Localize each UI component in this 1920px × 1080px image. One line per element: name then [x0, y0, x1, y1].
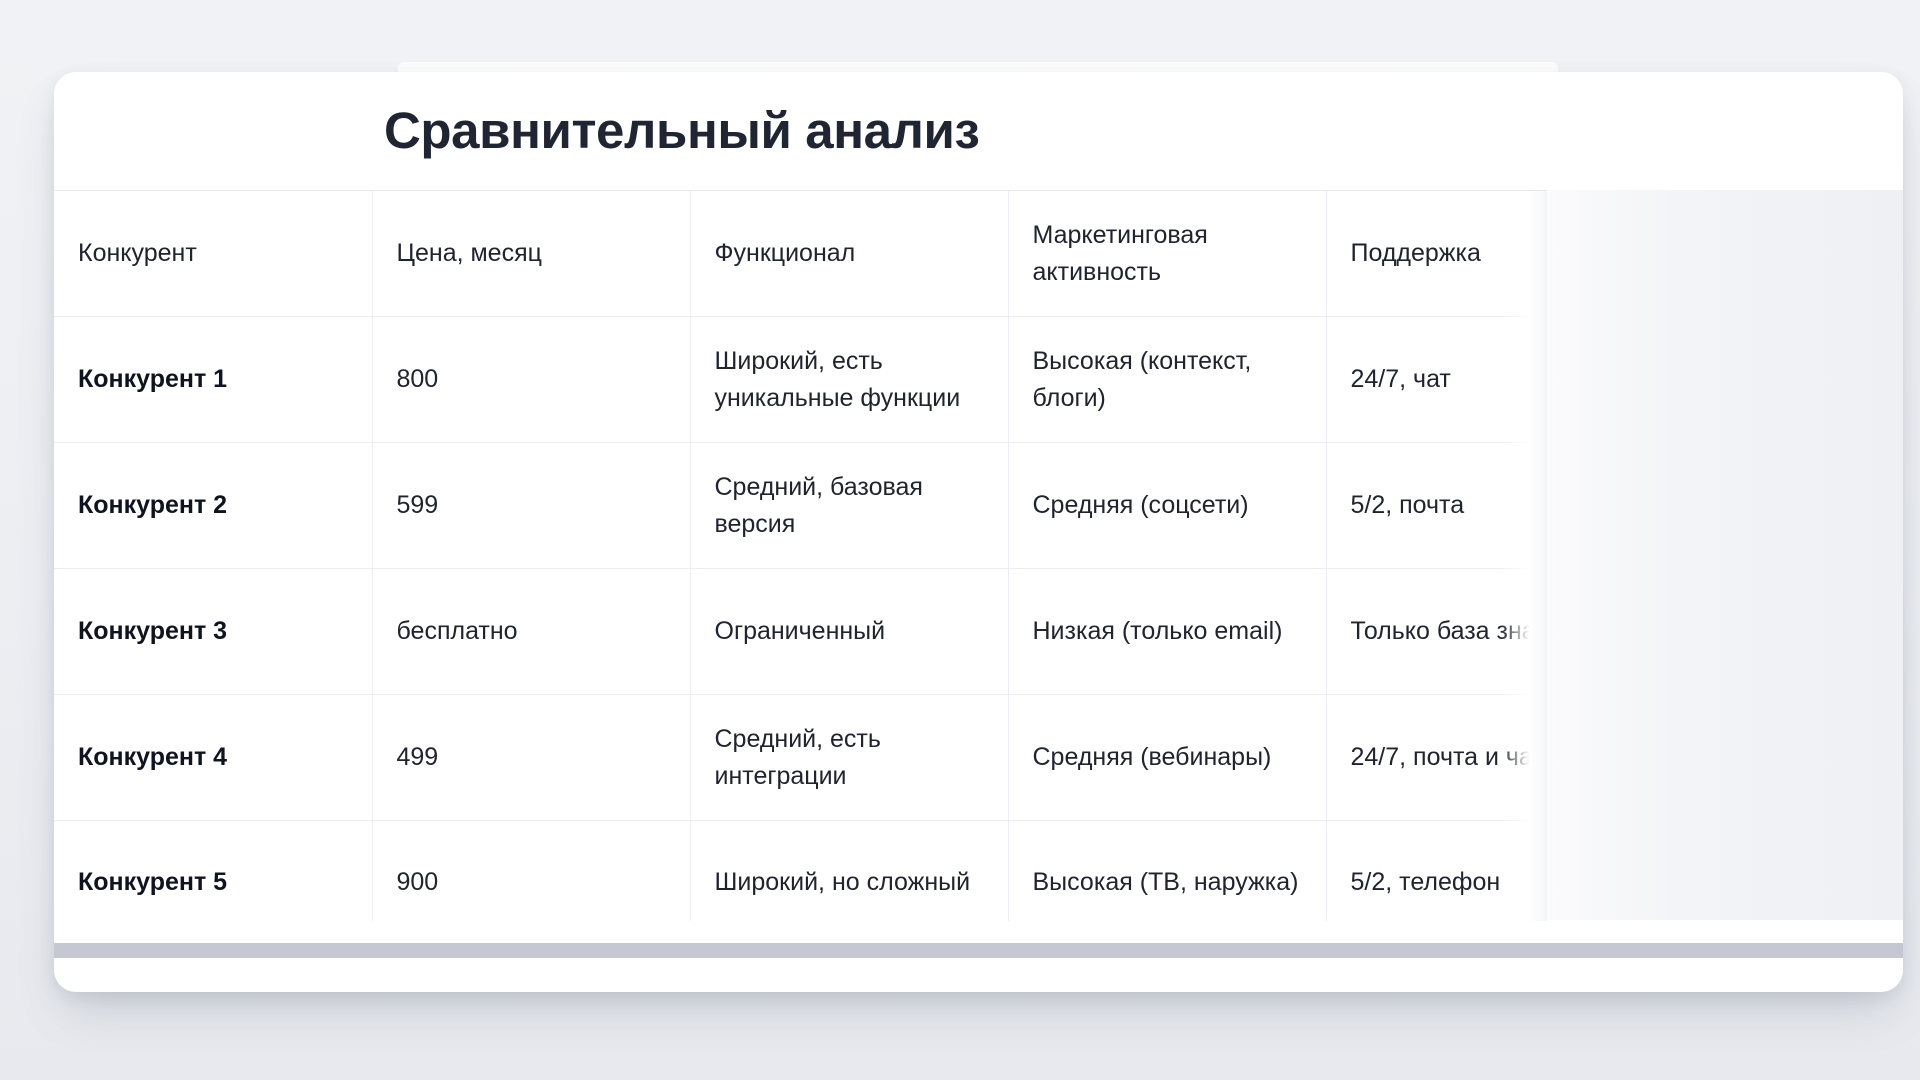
cell-functionality: Широкий, но сложный: [690, 821, 1008, 922]
cell-marketing: Высокая (ТВ, наружка): [1008, 821, 1326, 922]
column-header-price[interactable]: Цена, месяц: [372, 191, 690, 317]
cell-price: бесплатно: [372, 569, 690, 695]
cell-functionality: Ограниченный: [690, 569, 1008, 695]
cell-support: 5/2, телефон: [1326, 821, 1547, 922]
cell-support: Только база знаний: [1326, 569, 1547, 695]
table-right-gutter: [1547, 190, 1903, 920]
cell-price: 900: [372, 821, 690, 922]
cell-competitor: Конкурент 2: [54, 443, 372, 569]
table-row: Конкурент 3 бесплатно Ограниченный Низка…: [54, 569, 1547, 695]
comparative-analysis-table: Конкурент Цена, месяц Функционал Маркети…: [54, 191, 1547, 921]
cell-marketing: Высокая (контекст, блоги): [1008, 317, 1326, 443]
cell-price: 599: [372, 443, 690, 569]
horizontal-scrollbar[interactable]: [54, 943, 1903, 958]
page-title: Сравнительный анализ: [384, 104, 979, 158]
cell-marketing: Средняя (вебинары): [1008, 695, 1326, 821]
cell-competitor: Конкурент 4: [54, 695, 372, 821]
table-header-row: Конкурент Цена, месяц Функционал Маркети…: [54, 191, 1547, 317]
cell-price: 800: [372, 317, 690, 443]
column-header-support[interactable]: Поддержка: [1326, 191, 1547, 317]
cell-functionality: Средний, есть интеграции: [690, 695, 1008, 821]
table-row: Конкурент 2 599 Средний, базовая версия …: [54, 443, 1547, 569]
cell-competitor: Конкурент 3: [54, 569, 372, 695]
cell-support: 24/7, почта и чат: [1326, 695, 1547, 821]
cell-support: 5/2, почта: [1326, 443, 1547, 569]
cell-marketing: Низкая (только email): [1008, 569, 1326, 695]
table-scroll-viewport[interactable]: Конкурент Цена, месяц Функционал Маркети…: [54, 190, 1547, 921]
scrollbar-thumb[interactable]: [54, 943, 1903, 958]
page-stage: Сравнительный анализ Конкурент Цена, мес…: [0, 0, 1920, 1080]
cell-support: 24/7, чат: [1326, 317, 1547, 443]
table-row: Конкурент 4 499 Средний, есть интеграции…: [54, 695, 1547, 821]
cell-competitor: Конкурент 1: [54, 317, 372, 443]
card-header: Сравнительный анализ: [54, 72, 1903, 190]
column-header-competitor[interactable]: Конкурент: [54, 191, 372, 317]
cell-functionality: Средний, базовая версия: [690, 443, 1008, 569]
cell-marketing: Средняя (соцсети): [1008, 443, 1326, 569]
cell-competitor: Конкурент 5: [54, 821, 372, 922]
cell-price: 499: [372, 695, 690, 821]
analysis-card: Сравнительный анализ Конкурент Цена, мес…: [54, 72, 1903, 992]
cell-functionality: Широкий, есть уникальные функции: [690, 317, 1008, 443]
column-header-functionality[interactable]: Функционал: [690, 191, 1008, 317]
column-header-marketing[interactable]: Маркетинговая активность: [1008, 191, 1326, 317]
table-row: Конкурент 5 900 Широкий, но сложный Высо…: [54, 821, 1547, 922]
table-row: Конкурент 1 800 Широкий, есть уникальные…: [54, 317, 1547, 443]
